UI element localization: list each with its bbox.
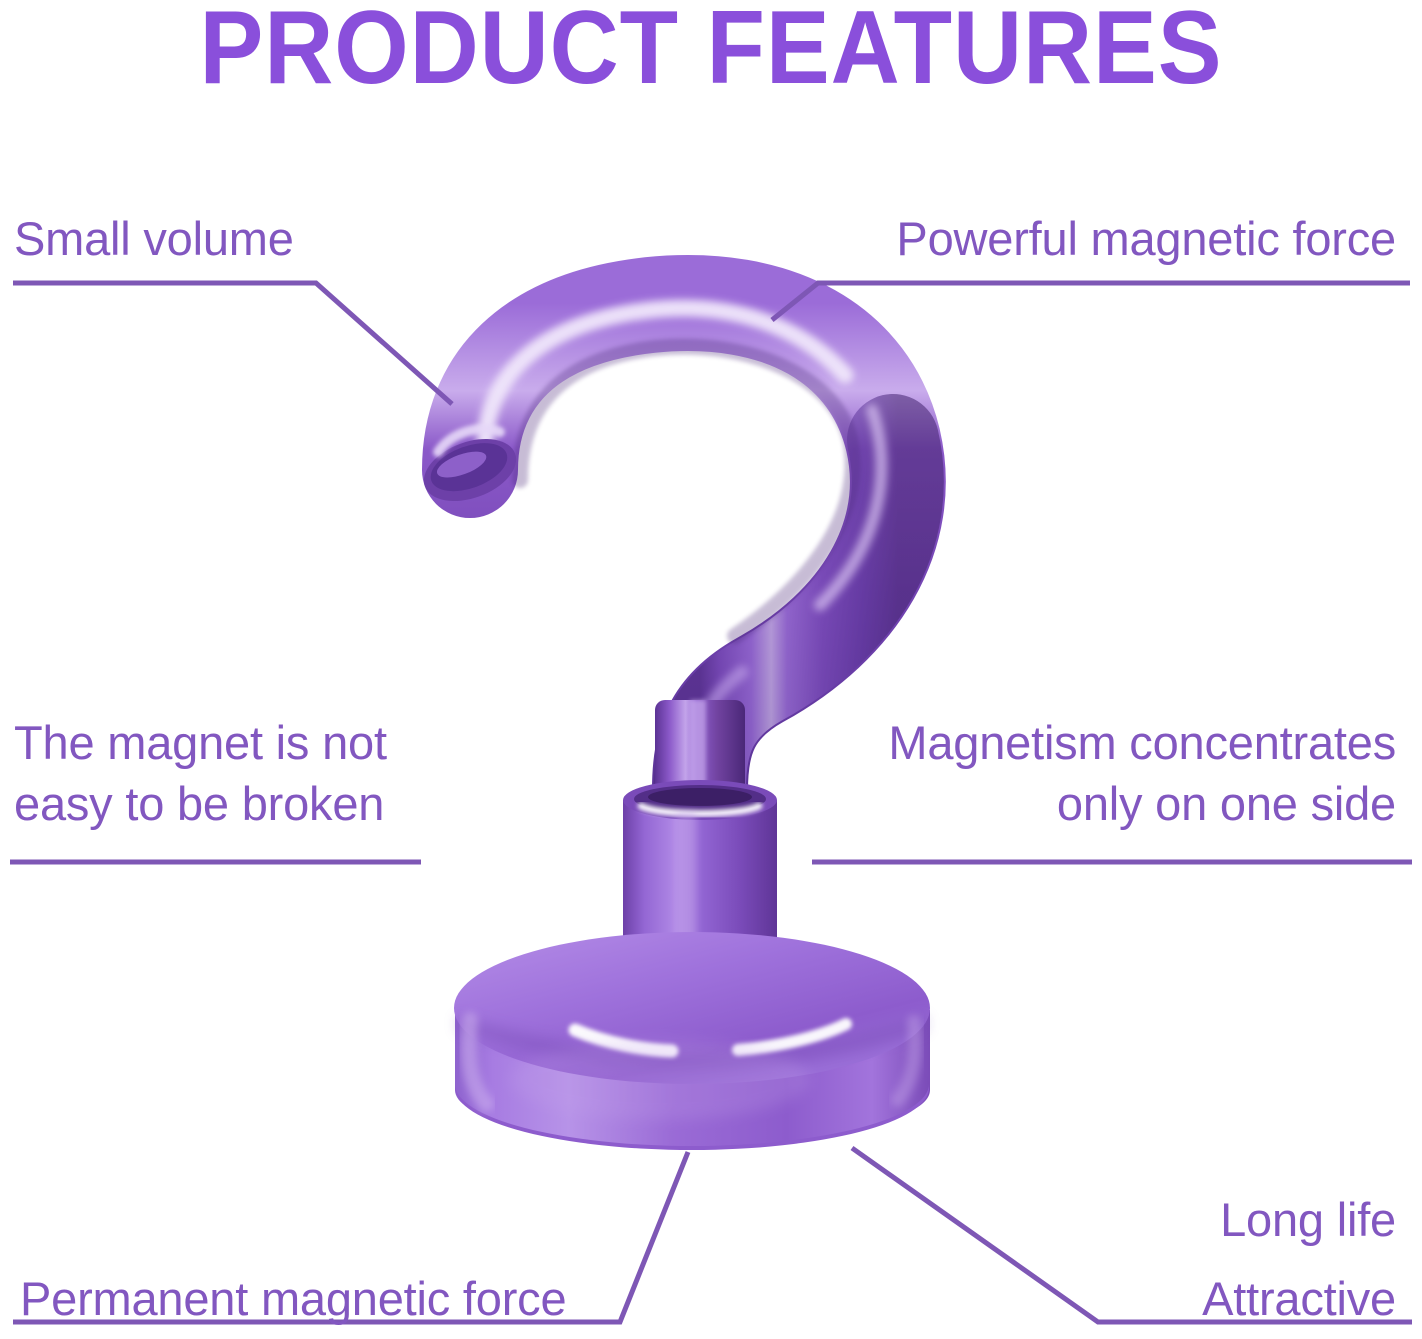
feature-label-magnet-not-easy-broken: The magnet is not easy to be broken xyxy=(14,712,387,834)
feature-label-attractive: Attractive xyxy=(1202,1268,1396,1329)
feature-label-small-volume: Small volume xyxy=(14,208,294,269)
feature-label-permanent-magnetic-force: Permanent magnetic force xyxy=(20,1268,566,1329)
product-features-infographic: PRODUCT FEATURES xyxy=(0,0,1422,1339)
feature-label-long-life: Long life xyxy=(1220,1189,1396,1250)
feature-label-magnetism-one-side: Magnetism concentrates only on one side xyxy=(888,712,1396,834)
feature-label-powerful-magnetic-force: Powerful magnetic force xyxy=(896,208,1396,269)
magnetic-hook-illustration xyxy=(0,0,1422,1339)
magnet-disc-base xyxy=(454,932,930,1150)
